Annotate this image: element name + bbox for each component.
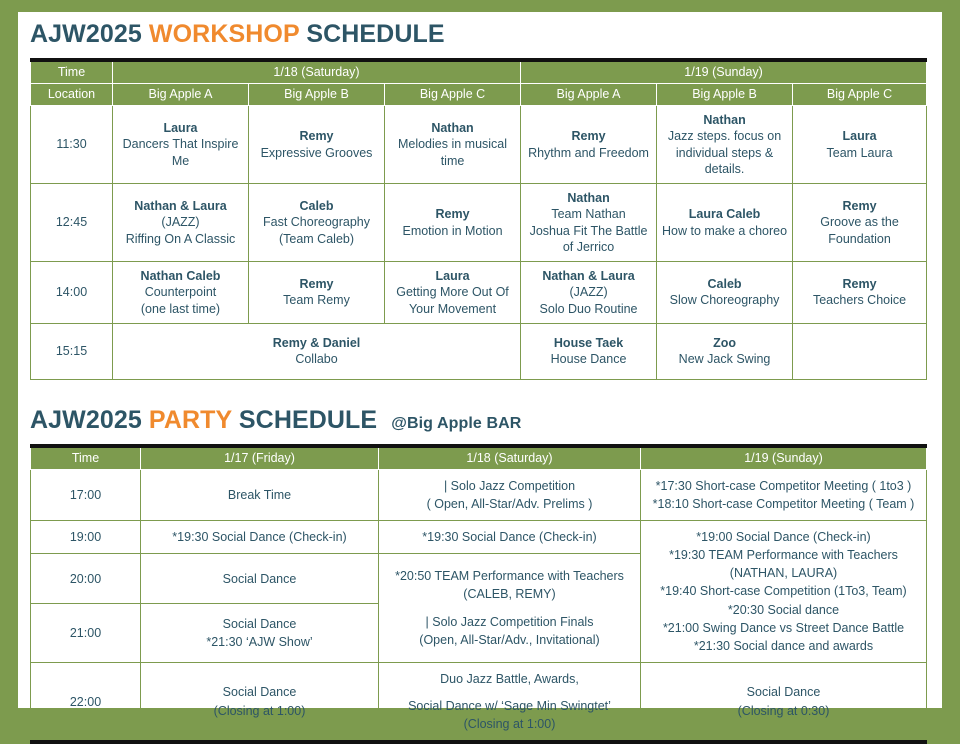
party-cell-friday: Social Dance(Closing at 1:00) — [141, 662, 379, 742]
party-header-day-sunday: 1/19 (Sunday) — [641, 446, 927, 470]
party-title-suffix: SCHEDULE — [239, 406, 377, 434]
party-cell-saturday: *20:50 TEAM Performance with Teachers(CA… — [379, 554, 641, 663]
workshop-session-teacher: Nathan & Laura — [116, 198, 245, 214]
workshop-session-teacher: Laura — [116, 120, 245, 136]
workshop-session-cell: NathanTeam NathanJoshua Fit The Battle o… — [521, 184, 657, 262]
party-header-time: Time — [31, 446, 141, 470]
workshop-session-teacher: Remy — [252, 128, 381, 144]
workshop-session-cell: NathanMelodies in musical time — [385, 106, 521, 184]
party-saturday-line-social: Social Dance w/ ‘Sage Min Swingtet’(Clos… — [387, 697, 632, 733]
party-header-day-friday: 1/17 (Friday) — [141, 446, 379, 470]
workshop-session-cell: RemyExpressive Grooves — [249, 106, 385, 184]
workshop-session-topic: New Jack Swing — [660, 351, 789, 367]
workshop-session-teacher: Nathan — [660, 112, 789, 128]
workshop-session-topic: Jazz steps. focus on individual steps & … — [660, 128, 789, 177]
party-row-time: 22:00 — [31, 662, 141, 742]
party-schedule-table: Time 1/17 (Friday) 1/18 (Saturday) 1/19 … — [30, 444, 927, 744]
workshop-header-location: Location — [31, 84, 113, 106]
party-row-time: 20:00 — [31, 554, 141, 604]
workshop-header-day-saturday: 1/18 (Saturday) — [113, 60, 521, 84]
workshop-header-room-sat-c: Big Apple C — [385, 84, 521, 106]
workshop-session-topic: Groove as the Foundation — [796, 214, 923, 247]
workshop-session-teacher: Zoo — [660, 335, 789, 351]
party-cell-sunday: *17:30 Short-case Competitor Meeting ( 1… — [641, 469, 927, 520]
workshop-session-teacher: Nathan & Laura — [524, 268, 653, 284]
workshop-row: 11:30LauraDancers That Inspire MeRemyExp… — [31, 106, 927, 184]
party-cell-saturday: Duo Jazz Battle, Awards,Social Dance w/ … — [379, 662, 641, 742]
workshop-session-topic: (JAZZ)Solo Duo Routine — [524, 284, 653, 317]
workshop-session-topic: Counterpoint(one last time) — [116, 284, 245, 317]
workshop-header-room-sun-b: Big Apple B — [657, 84, 793, 106]
workshop-session-cell: Laura CalebHow to make a choreo — [657, 184, 793, 262]
workshop-header-room-sat-b: Big Apple B — [249, 84, 385, 106]
workshop-session-cell: House TaekHouse Dance — [521, 323, 657, 379]
workshop-session-cell: LauraDancers That Inspire Me — [113, 106, 249, 184]
workshop-title-accent: WORKSHOP — [149, 20, 299, 48]
workshop-session-teacher: Caleb — [252, 198, 381, 214]
workshop-header-time: Time — [31, 60, 113, 84]
workshop-session-topic: House Dance — [524, 351, 653, 367]
workshop-session-teacher: Remy — [388, 206, 517, 222]
party-cell-friday: Social Dance*21:30 ‘AJW Show’ — [141, 604, 379, 663]
workshop-header-room-sat-a: Big Apple A — [113, 84, 249, 106]
party-cell-friday: *19:30 Social Dance (Check-in) — [141, 521, 379, 554]
workshop-session-topic: Emotion in Motion — [388, 223, 517, 239]
party-cell-saturday: *19:30 Social Dance (Check-in) — [379, 521, 641, 554]
party-header-row: Time 1/17 (Friday) 1/18 (Saturday) 1/19 … — [31, 446, 927, 470]
workshop-session-teacher: Laura — [796, 128, 923, 144]
workshop-session-teacher: Remy — [524, 128, 653, 144]
workshop-session-cell: RemyGroove as the Foundation — [793, 184, 927, 262]
party-title: AJW2025 PARTY SCHEDULE @Big Apple BAR — [30, 406, 936, 435]
party-saturday-block-finals: | Solo Jazz Competition Finals(Open, All… — [387, 613, 632, 649]
party-row-time: 17:00 — [31, 469, 141, 520]
workshop-header-row-days: Time 1/18 (Saturday) 1/19 (Sunday) — [31, 60, 927, 84]
workshop-session-topic: Melodies in musical time — [388, 136, 517, 169]
party-saturday-block-performance: *20:50 TEAM Performance with Teachers(CA… — [387, 567, 632, 603]
party-table-body: 17:00Break Time| Solo Jazz Competition (… — [31, 469, 927, 742]
workshop-header-room-sun-c: Big Apple C — [793, 84, 927, 106]
workshop-header-day-sunday: 1/19 (Sunday) — [521, 60, 927, 84]
workshop-session-cell: RemyRhythm and Freedom — [521, 106, 657, 184]
workshop-session-cell: RemyEmotion in Motion — [385, 184, 521, 262]
workshop-table-body: 11:30LauraDancers That Inspire MeRemyExp… — [31, 106, 927, 380]
workshop-title-suffix: SCHEDULE — [306, 20, 444, 48]
workshop-session-topic: Rhythm and Freedom — [524, 145, 653, 161]
workshop-session-teacher: Nathan Caleb — [116, 268, 245, 284]
party-cell-saturday: | Solo Jazz Competition ( Open, All-Star… — [379, 469, 641, 520]
workshop-session-topic: Collabo — [116, 351, 517, 367]
workshop-session-cell: Nathan CalebCounterpoint(one last time) — [113, 262, 249, 324]
workshop-session-topic: Team Laura — [796, 145, 923, 161]
workshop-session-cell: LauraGetting More Out Of Your Movement — [385, 262, 521, 324]
party-table-head: Time 1/17 (Friday) 1/18 (Saturday) 1/19 … — [31, 446, 927, 470]
party-row: 22:00Social Dance(Closing at 1:00)Duo Ja… — [31, 662, 927, 742]
workshop-session-topic: Dancers That Inspire Me — [116, 136, 245, 169]
workshop-table-head: Time 1/18 (Saturday) 1/19 (Sunday) Locat… — [31, 60, 927, 106]
workshop-session-cell: CalebSlow Choreography — [657, 262, 793, 324]
workshop-row-time: 11:30 — [31, 106, 113, 184]
workshop-row-time: 15:15 — [31, 323, 113, 379]
workshop-row-time: 12:45 — [31, 184, 113, 262]
workshop-session-teacher: Nathan — [388, 120, 517, 136]
workshop-session-cell: ZooNew Jack Swing — [657, 323, 793, 379]
page-canvas: AJW2025 WORKSHOP SCHEDULE Time 1/18 (Sat… — [18, 12, 942, 708]
workshop-session-teacher: Caleb — [660, 276, 789, 292]
workshop-session-topic: Getting More Out Of Your Movement — [388, 284, 517, 317]
workshop-session-teacher: Laura — [388, 268, 517, 284]
party-cell-sunday: *19:00 Social Dance (Check-in)*19:30 TEA… — [641, 521, 927, 663]
party-cell-friday: Social Dance — [141, 554, 379, 604]
workshop-session-topic: Expressive Grooves — [252, 145, 381, 161]
workshop-session-cell: RemyTeam Remy — [249, 262, 385, 324]
party-row: 19:00*19:30 Social Dance (Check-in)*19:3… — [31, 521, 927, 554]
workshop-session-topic: Teachers Choice — [796, 292, 923, 308]
workshop-header-room-sun-a: Big Apple A — [521, 84, 657, 106]
workshop-session-cell: LauraTeam Laura — [793, 106, 927, 184]
workshop-title: AJW2025 WORKSHOP SCHEDULE — [30, 20, 936, 49]
party-row-time: 21:00 — [31, 604, 141, 663]
workshop-session-cell: NathanJazz steps. focus on individual st… — [657, 106, 793, 184]
party-header-day-saturday: 1/18 (Saturday) — [379, 446, 641, 470]
party-venue-label: @Big Apple BAR — [391, 415, 521, 432]
party-row: 17:00Break Time| Solo Jazz Competition (… — [31, 469, 927, 520]
workshop-session-cell: Remy & DanielCollabo — [113, 323, 521, 379]
workshop-session-cell: Nathan & Laura(JAZZ)Solo Duo Routine — [521, 262, 657, 324]
workshop-session-topic: How to make a choreo — [660, 223, 789, 239]
workshop-session-teacher: Remy — [796, 198, 923, 214]
party-cell-friday: Break Time — [141, 469, 379, 520]
workshop-session-teacher: Remy & Daniel — [116, 335, 517, 351]
workshop-session-teacher: Remy — [796, 276, 923, 292]
workshop-session-teacher: House Taek — [524, 335, 653, 351]
workshop-session-topic: Fast Choreography(Team Caleb) — [252, 214, 381, 247]
workshop-cell-empty — [793, 323, 927, 379]
party-title-prefix: AJW2025 — [30, 406, 142, 434]
workshop-session-cell: Nathan & Laura(JAZZ)Riffing On A Classic — [113, 184, 249, 262]
workshop-row: 15:15Remy & DanielCollaboHouse TaekHouse… — [31, 323, 927, 379]
workshop-session-topic: Team NathanJoshua Fit The Battle of Jerr… — [524, 206, 653, 255]
workshop-session-topic: Team Remy — [252, 292, 381, 308]
workshop-row-time: 14:00 — [31, 262, 113, 324]
party-title-accent: PARTY — [149, 406, 232, 434]
party-saturday-line-battle: Duo Jazz Battle, Awards, — [387, 670, 632, 688]
workshop-session-teacher: Remy — [252, 276, 381, 292]
workshop-session-topic: (JAZZ)Riffing On A Classic — [116, 214, 245, 247]
workshop-row: 14:00Nathan CalebCounterpoint(one last t… — [31, 262, 927, 324]
workshop-title-prefix: AJW2025 — [30, 20, 142, 48]
party-cell-sunday: Social Dance(Closing at 0:30) — [641, 662, 927, 742]
workshop-session-cell: CalebFast Choreography(Team Caleb) — [249, 184, 385, 262]
party-row-time: 19:00 — [31, 521, 141, 554]
workshop-schedule-table: Time 1/18 (Saturday) 1/19 (Sunday) Locat… — [30, 58, 927, 380]
workshop-session-topic: Slow Choreography — [660, 292, 789, 308]
workshop-header-row-rooms: Location Big Apple A Big Apple B Big App… — [31, 84, 927, 106]
workshop-row: 12:45Nathan & Laura(JAZZ)Riffing On A Cl… — [31, 184, 927, 262]
workshop-session-teacher: Nathan — [524, 190, 653, 206]
workshop-session-teacher: Laura Caleb — [660, 206, 789, 222]
workshop-session-cell: RemyTeachers Choice — [793, 262, 927, 324]
